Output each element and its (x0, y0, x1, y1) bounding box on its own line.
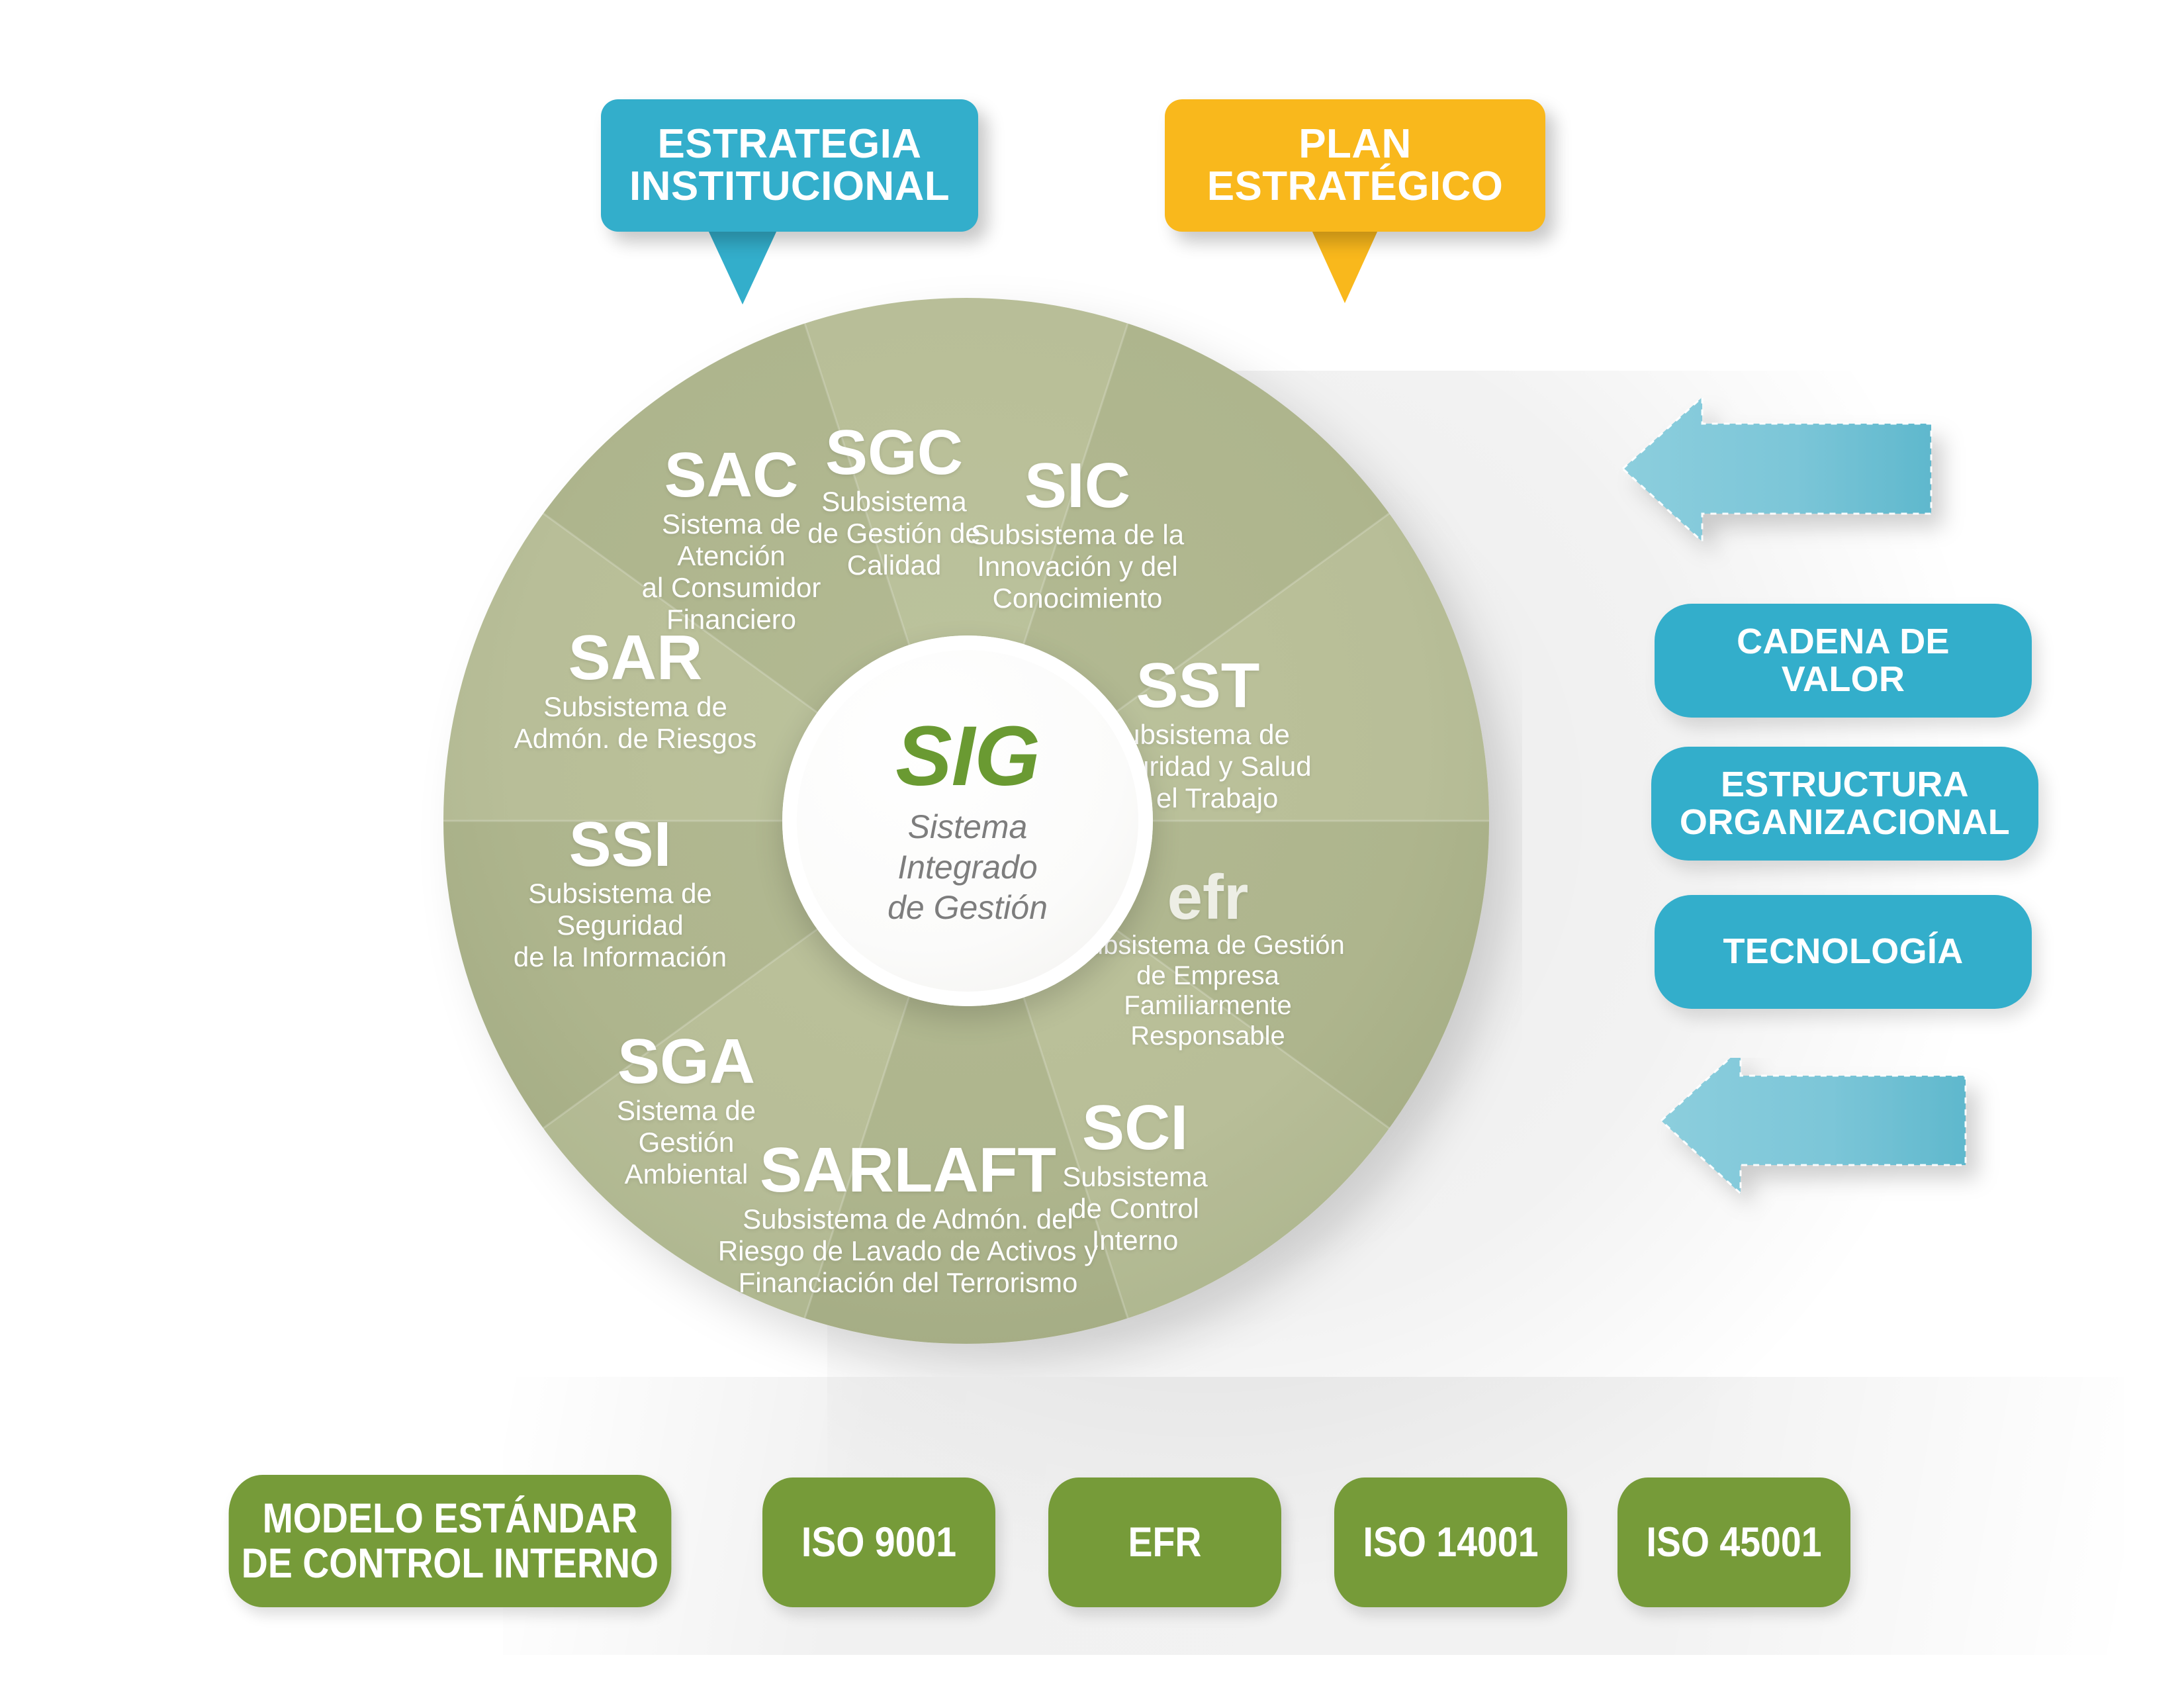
callout-estrategia-line1: ESTRATEGIA (658, 121, 922, 167)
gp-iso45001-label: ISO 45001 (1646, 1520, 1821, 1565)
pill-efr[interactable]: EFR (1048, 1477, 1281, 1607)
pill-cadena-de-valor[interactable]: CADENA DE VALOR (1655, 604, 2032, 718)
callout-plan-estrategico[interactable]: PLAN ESTRATÉGICO (1165, 99, 1545, 232)
pill-tecnologia-line1: TECNOLOGÍA (1723, 931, 1964, 971)
pill-cadena-line2: VALOR (1782, 659, 1905, 699)
pill-iso-14001[interactable]: ISO 14001 (1334, 1477, 1567, 1607)
callout-estrategia-line2: INSTITUCIONAL (629, 164, 950, 209)
pill-iso-45001[interactable]: ISO 45001 (1617, 1477, 1850, 1607)
gp-iso9001-label: ISO 9001 (801, 1520, 956, 1565)
callout-plan-tail (1312, 230, 1378, 303)
gp-meci-line1: MODELO ESTÁNDAR (263, 1495, 638, 1542)
callout-plan-line1: PLAN (1298, 121, 1411, 167)
callout-estrategia-tail (708, 230, 777, 305)
pill-modelo-estandar-control-interno[interactable]: MODELO ESTÁNDAR DE CONTROL INTERNO (229, 1475, 672, 1607)
callout-estrategia-institucional[interactable]: ESTRATEGIA INSTITUCIONAL (601, 99, 978, 232)
pill-estructura-line2: ORGANIZACIONAL (1680, 802, 2010, 842)
gp-meci-line2: DE CONTROL INTERNO (242, 1540, 659, 1587)
background-wash-bottom (503, 1377, 2124, 1655)
pill-estructura-line1: ESTRUCTURA (1721, 765, 1969, 804)
pill-estructura-organizacional[interactable]: ESTRUCTURA ORGANIZACIONAL (1651, 747, 2038, 861)
hub-sub-line1: Sistema (908, 808, 1028, 845)
hub-subtitle: Sistema Integrado de Gestión (887, 807, 1048, 928)
pill-cadena-line1: CADENA DE (1737, 622, 1950, 661)
gp-iso14001-label: ISO 14001 (1363, 1520, 1538, 1565)
hub-abbr: SIG (895, 714, 1040, 799)
gp-efr-label: EFR (1128, 1520, 1202, 1565)
hub-sub-line3: de Gestión (887, 889, 1048, 926)
callout-plan-line2: ESTRATÉGICO (1207, 164, 1504, 209)
hub-sub-line2: Integrado (897, 849, 1037, 886)
arrow-left-bottom-icon (1621, 1058, 2019, 1243)
pill-tecnologia[interactable]: TECNOLOGÍA (1655, 895, 2032, 1009)
pill-iso-9001[interactable]: ISO 9001 (762, 1477, 995, 1607)
arrow-left-top-icon (1615, 391, 2012, 576)
sig-center-hub: SIG Sistema Integrado de Gestión (782, 635, 1153, 1006)
